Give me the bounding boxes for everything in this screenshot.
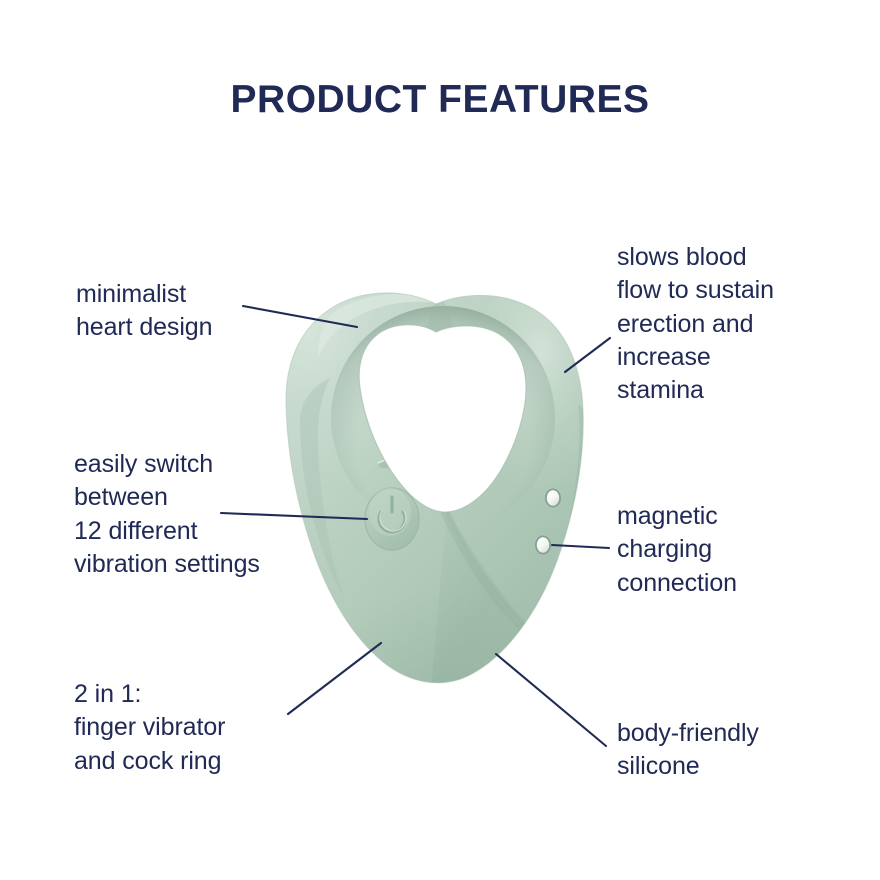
leader-line-blood-flow: [565, 338, 610, 372]
callout-magnetic-charging-line-1: magnetic: [617, 500, 737, 533]
callout-blood-flow-line-2: flow to sustain: [617, 274, 774, 307]
callout-two-in-one: 2 in 1: finger vibrator and cock ring: [74, 678, 225, 778]
callout-blood-flow-line-4: increase: [617, 341, 774, 374]
charging-contact-lower: [535, 536, 551, 555]
callout-two-in-one-line-1: 2 in 1:: [74, 678, 225, 711]
page-title: PRODUCT FEATURES: [0, 78, 880, 122]
callout-vibration-settings: easily switch between 12 different vibra…: [74, 448, 260, 581]
callout-blood-flow: slows blood flow to sustain erection and…: [617, 241, 774, 407]
leader-line-magnetic-charging: [552, 545, 609, 548]
callout-blood-flow-line-3: erection and: [617, 308, 774, 341]
callout-body-friendly-silicone-line-2: silicone: [617, 750, 759, 783]
callout-vibration-settings-line-3: 12 different: [74, 515, 260, 548]
callout-vibration-settings-line-2: between: [74, 481, 260, 514]
leader-line-body-friendly-silicone: [496, 654, 606, 746]
callout-heart-design-line-2: heart design: [76, 311, 212, 344]
callout-body-friendly-silicone: body-friendly silicone: [617, 717, 759, 784]
product-body: [242, 265, 616, 755]
power-button[interactable]: [365, 488, 419, 550]
callout-magnetic-charging: magnetic charging connection: [617, 500, 737, 600]
callout-blood-flow-line-1: slows blood: [617, 241, 774, 274]
product-features-infographic: PRODUCT FEATURES: [0, 0, 880, 880]
leader-line-heart-design: [243, 306, 357, 327]
callout-vibration-settings-line-1: easily switch: [74, 448, 260, 481]
callout-vibration-settings-line-4: vibration settings: [74, 548, 260, 581]
callout-magnetic-charging-line-2: charging: [617, 533, 737, 566]
callout-heart-design-line-1: minimalist: [76, 278, 212, 311]
callout-two-in-one-line-3: and cock ring: [74, 745, 225, 778]
leader-line-two-in-one: [288, 643, 381, 714]
callout-magnetic-charging-line-3: connection: [617, 567, 737, 600]
charging-contact-upper: [545, 489, 561, 508]
magnetic-charging-contacts: [535, 489, 561, 555]
callout-blood-flow-line-5: stamina: [617, 374, 774, 407]
callout-heart-design: minimalist heart design: [76, 278, 212, 345]
callout-two-in-one-line-2: finger vibrator: [74, 711, 225, 744]
callout-body-friendly-silicone-line-1: body-friendly: [617, 717, 759, 750]
